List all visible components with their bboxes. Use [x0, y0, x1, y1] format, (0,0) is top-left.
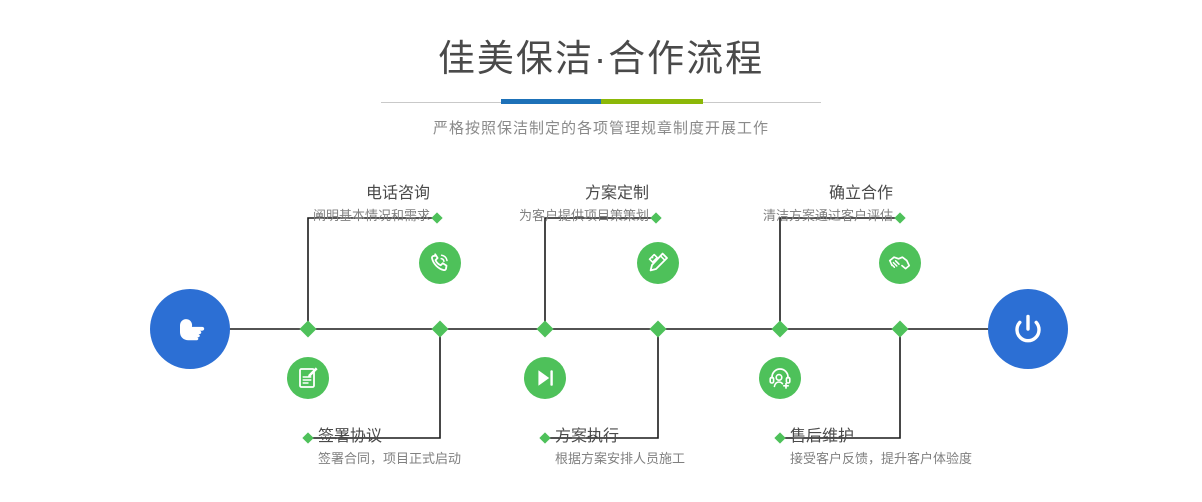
handshake-icon	[887, 250, 913, 276]
label-diamond-2	[302, 432, 313, 443]
flow-infographic: 佳美保洁·合作流程 严格按照保洁制定的各项管理规章制度开展工作	[0, 0, 1202, 502]
play-skip-icon	[532, 365, 558, 391]
step-5-label: 确立合作 清洁方案通过客户评估	[600, 185, 893, 224]
spine-diamond-2	[432, 321, 449, 338]
process-flow-diagram: 电话咨询 阐明基本情况和需求 方案定制 为客户提供项目策策划 确立合作 清洁方案…	[0, 150, 1202, 502]
pencil-ruler-icon	[645, 250, 671, 276]
connector-step-1	[308, 218, 437, 329]
label-diamonds	[302, 212, 905, 443]
end-endpoint[interactable]	[988, 289, 1068, 369]
spine-diamond-4	[650, 321, 667, 338]
start-endpoint[interactable]	[150, 289, 230, 369]
document-edit-icon	[295, 365, 321, 391]
step-6-desc: 接受客户反馈，提升客户体验度	[790, 451, 1110, 467]
spine-diamond-1	[300, 321, 317, 338]
step-5-icon-badge[interactable]	[879, 242, 921, 284]
page-title: 佳美保洁·合作流程	[0, 40, 1202, 77]
step-1-icon-badge[interactable]	[419, 242, 461, 284]
spine-diamond-6	[892, 321, 909, 338]
step-6-label: 售后维护 接受客户反馈，提升客户体验度	[790, 428, 1110, 467]
step-4-icon-badge[interactable]	[524, 357, 566, 399]
step-3-icon-badge[interactable]	[637, 242, 679, 284]
pointing-hand-icon	[168, 307, 212, 351]
step-2-icon-badge[interactable]	[287, 357, 329, 399]
spine-diamond-3	[537, 321, 554, 338]
divider-green-segment	[601, 99, 703, 104]
step-6-title: 售后维护	[790, 428, 1110, 446]
title-divider	[381, 99, 821, 105]
page-header: 佳美保洁·合作流程 严格按照保洁制定的各项管理规章制度开展工作	[0, 0, 1202, 136]
phone-call-icon	[427, 250, 453, 276]
customer-service-icon	[767, 365, 793, 391]
divider-blue-segment	[501, 99, 601, 104]
spine-diamond-5	[772, 321, 789, 338]
step-6-icon-badge[interactable]	[759, 357, 801, 399]
step-5-desc: 清洁方案通过客户评估	[600, 208, 893, 224]
step-5-title: 确立合作	[600, 185, 893, 203]
power-button-icon	[1006, 307, 1050, 351]
page-subtitle: 严格按照保洁制定的各项管理规章制度开展工作	[0, 121, 1202, 136]
label-diamond-5	[894, 212, 905, 223]
